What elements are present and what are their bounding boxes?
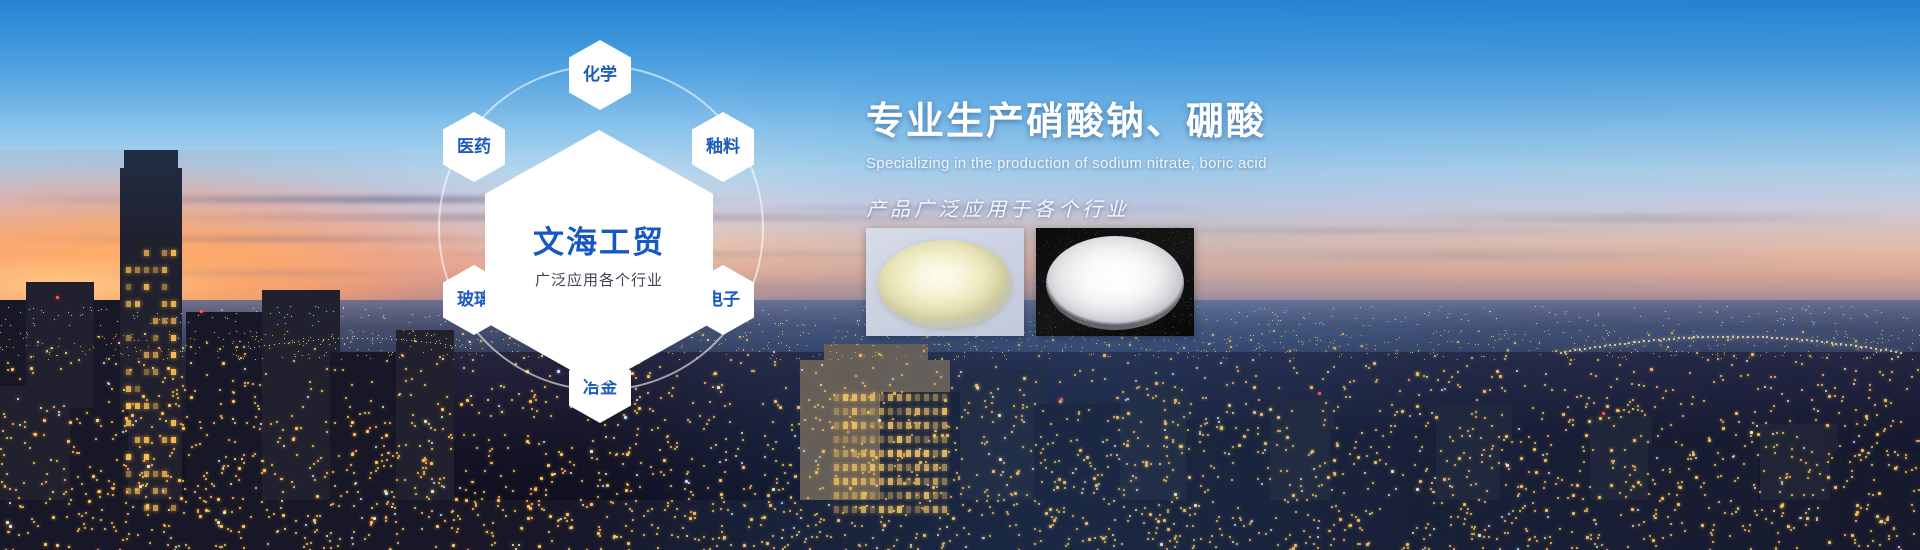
product-photo-sodium-nitrate[interactable] bbox=[866, 228, 1024, 336]
powder-grain-texture bbox=[866, 228, 1024, 336]
hex-label: 化学 bbox=[583, 67, 617, 84]
headline-english: Specializing in the production of sodium… bbox=[866, 155, 1506, 172]
headline-block: 专业生产硝酸钠、硼酸 Specializing in the productio… bbox=[866, 100, 1506, 222]
promo-banner: 化学 釉料 电子 冶金 玻璃 医药 文海工贸 广泛应用各个行业 专业生产硝酸钠、… bbox=[0, 0, 1920, 550]
industry-hex-cluster: 化学 釉料 电子 冶金 玻璃 医药 文海工贸 广泛应用各个行业 bbox=[430, 40, 770, 440]
hex-label: 釉料 bbox=[706, 139, 740, 156]
tagline-chinese: 产品广泛应用于各个行业 bbox=[866, 193, 1506, 222]
powder-grain-texture bbox=[1036, 228, 1194, 336]
brand-subtitle: 广泛应用各个行业 bbox=[535, 269, 663, 290]
headline-chinese: 专业生产硝酸钠、硼酸 bbox=[866, 100, 1506, 144]
product-photo-boric-acid[interactable] bbox=[1036, 228, 1194, 336]
product-photo-strip bbox=[866, 228, 1194, 336]
brand-name: 文海工贸 bbox=[533, 226, 665, 260]
hex-label: 医药 bbox=[457, 139, 491, 156]
